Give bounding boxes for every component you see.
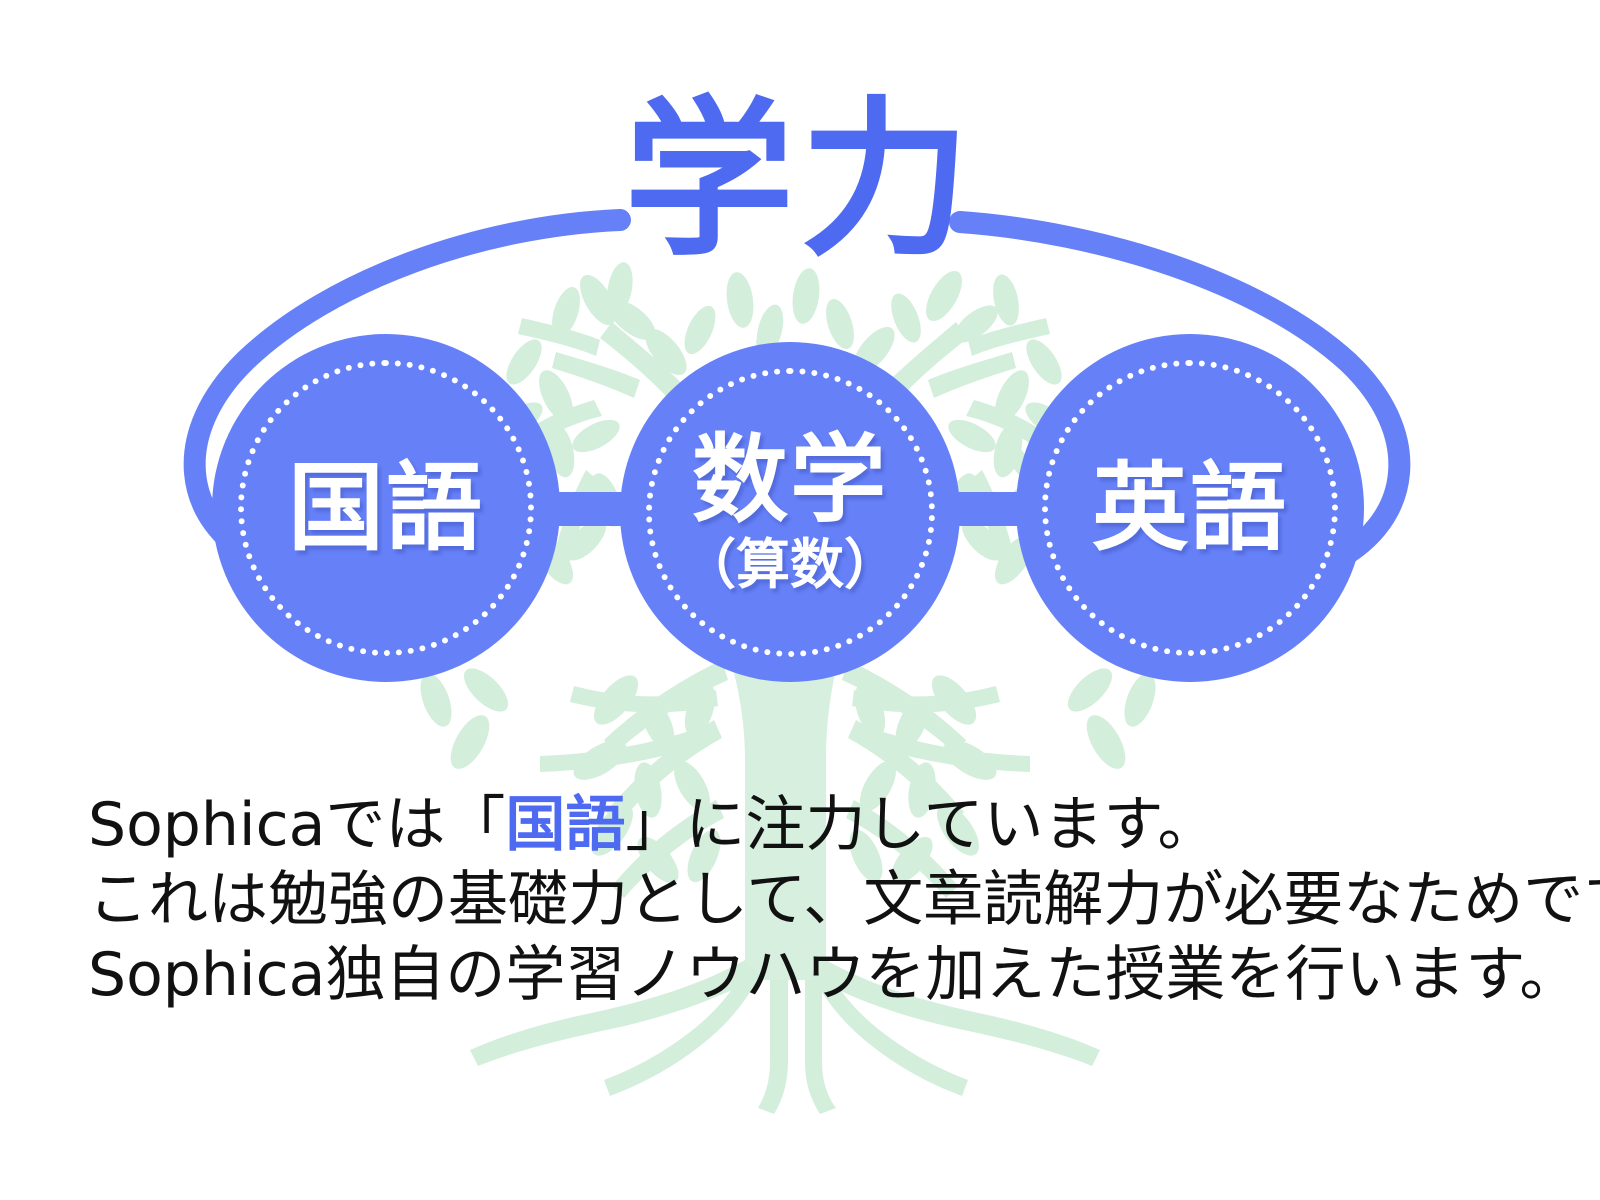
subject-node-sugaku[interactable]: 数学 （算数） (620, 342, 960, 682)
subject-label-kokugo: 国語 (288, 458, 484, 559)
caption-line1-highlight: 国語 (505, 790, 625, 860)
caption-line-2: これは勉強の基礎力として、文章読解力が必要なためです。 (88, 863, 1538, 938)
caption-line1-after: 」に注力しています。 (625, 790, 1217, 860)
subject-node-eigo[interactable]: 英語 (1016, 334, 1364, 682)
caption-line-1: Sophicaでは「国語」に注力しています。 (88, 788, 1538, 863)
page-title: 学力 (0, 96, 1600, 266)
subject-node-kokugo[interactable]: 国語 (212, 334, 560, 682)
subject-sublabel-sansu: （算数） (682, 535, 898, 594)
caption-block: Sophicaでは「国語」に注力しています。 これは勉強の基礎力として、文章読解… (88, 788, 1538, 1013)
caption-line1-before: Sophicaでは「 (88, 790, 505, 860)
caption-line-3: Sophica独自の学習ノウハウを加えた授業を行います。 (88, 938, 1538, 1013)
subject-label-eigo: 英語 (1092, 458, 1288, 559)
subject-label-sugaku: 数学 (692, 430, 888, 531)
slide-canvas: 学力 国語 数学 （算数） 英語 Sophicaでは「国語」に注力しています。 … (0, 0, 1600, 1200)
